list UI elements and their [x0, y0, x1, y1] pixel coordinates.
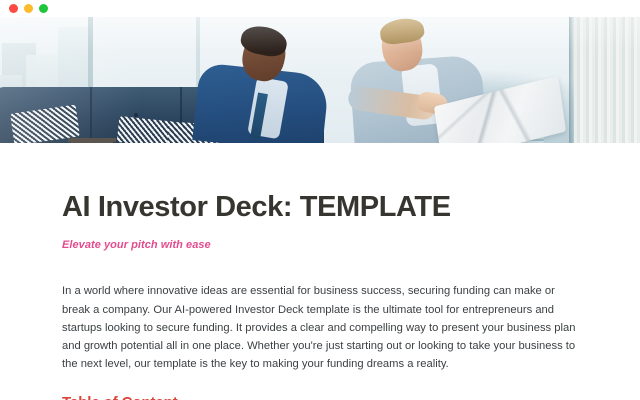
document-body: AI Investor Deck: TEMPLATE Elevate your … — [0, 143, 640, 400]
hero-photo — [0, 17, 640, 143]
intro-paragraph: In a world where innovative ideas are es… — [62, 282, 578, 373]
hero-cover-image[interactable] — [0, 17, 640, 143]
sofa-tuft — [134, 113, 138, 117]
page-title: AI Investor Deck: TEMPLATE — [62, 191, 578, 223]
table-of-content-heading: Table of Content — [62, 394, 578, 400]
maximize-window-button[interactable] — [39, 4, 48, 13]
page-subtitle: Elevate your pitch with ease — [62, 239, 578, 251]
traffic-light-controls — [9, 4, 48, 13]
minimize-window-button[interactable] — [24, 4, 33, 13]
app-window: AI Investor Deck: TEMPLATE Elevate your … — [0, 0, 640, 400]
close-window-button[interactable] — [9, 4, 18, 13]
sofa-seam — [90, 87, 92, 143]
vertical-blinds — [574, 17, 640, 143]
window-title-bar — [0, 0, 640, 17]
